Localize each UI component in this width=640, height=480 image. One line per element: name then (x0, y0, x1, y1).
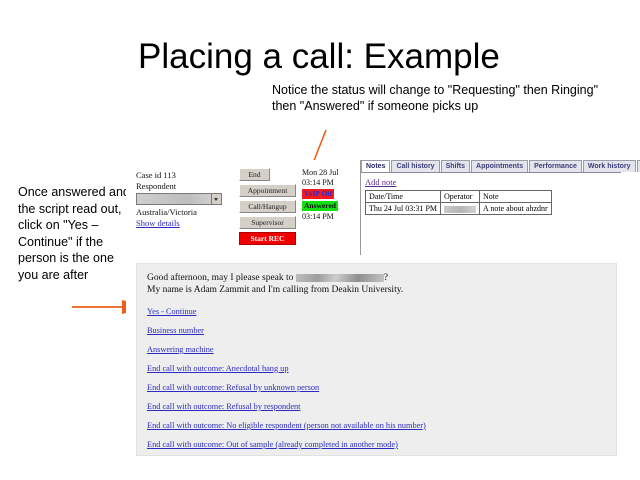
call-hangup-button[interactable]: Call/Hangup (239, 200, 296, 213)
option-no-eligible-respondent[interactable]: End call with outcome: No eligible respo… (147, 421, 606, 431)
start-rec-button[interactable]: Start REC (239, 232, 296, 245)
cell-note: A note about ahzdnr (480, 203, 552, 215)
option-out-of-sample[interactable]: End call with outcome: Out of sample (al… (147, 440, 606, 450)
option-refusal-unknown-person[interactable]: End call with outcome: Refusal by unknow… (147, 383, 606, 393)
page-title: Placing a call: Example (138, 36, 608, 78)
redacted-operator (444, 206, 476, 213)
table-row[interactable]: Thu 24 Jul 03:31 PM A note about ahzdnr (366, 203, 552, 215)
cell-datetime: Thu 24 Jul 03:31 PM (366, 203, 441, 215)
timezone-label: Australia/Victoria (136, 207, 236, 218)
column-datetime: Date/Time (366, 191, 441, 203)
column-note: Note (480, 191, 552, 203)
option-anecdotal-hangup[interactable]: End call with outcome: Anecdotal hang up (147, 364, 606, 374)
tab-notes[interactable]: Notes (361, 160, 390, 172)
script-options-list: Yes - Continue Business number Answering… (147, 307, 606, 450)
app-top-area: Case id 113 Respondent Australia/Victori… (126, 160, 621, 255)
chevron-down-icon (211, 194, 221, 204)
end-button[interactable]: End (239, 168, 270, 181)
option-business-number[interactable]: Business number (147, 326, 606, 336)
callout-status-note: Notice the status will change to "Reques… (272, 82, 612, 114)
add-note-link[interactable]: Add note (365, 177, 396, 187)
script-line-1: Good afternoon, may I please speak to ? (147, 272, 606, 284)
tab-call-history[interactable]: Call history (391, 160, 439, 172)
status-time-top: 03:14 PM (302, 178, 354, 188)
notes-table: Date/Time Operator Note Thu 24 Jul 03:31… (365, 190, 552, 215)
case-id-label: Case id 113 (136, 170, 236, 181)
script-line-1-before: Good afternoon, may I please speak to (147, 273, 293, 283)
case-info-panel: Case id 113 Respondent Australia/Victori… (136, 170, 236, 228)
option-answering-machine[interactable]: Answering machine (147, 345, 606, 355)
appointment-button[interactable]: Appointment (239, 184, 296, 197)
option-refusal-respondent[interactable]: End call with outcome: Refusal by respon… (147, 402, 606, 412)
redacted-respondent-name (296, 274, 384, 282)
supervisor-button[interactable]: Supervisor (239, 216, 296, 229)
tab-performance[interactable]: Performance (529, 160, 582, 172)
slide-canvas: Placing a call: Example Notice the statu… (0, 0, 640, 480)
tab-info[interactable]: Info (637, 160, 640, 172)
tab-shifts[interactable]: Shifts (441, 160, 470, 172)
script-line-1-after: ? (384, 273, 388, 283)
call-status-badge: Answered (302, 201, 338, 211)
call-control-buttons: End Appointment Call/Hangup Supervisor S… (239, 168, 297, 248)
column-operator: Operator (441, 191, 480, 203)
show-details-link[interactable]: Show details (136, 218, 236, 228)
call-status-panel: Mon 28 Jul 03:14 PM VoIP Off Answered 03… (302, 168, 354, 222)
respondent-select[interactable] (136, 193, 222, 205)
script-panel: Good afternoon, may I please speak to ? … (136, 263, 617, 456)
notes-panel: Notes Call history Shifts Appointments P… (360, 160, 621, 255)
cell-operator (441, 203, 480, 215)
callout-yes-continue-note: Once answered and the script read out, c… (18, 184, 130, 283)
script-line-2: My name is Adam Zammit and I'm calling f… (147, 284, 606, 296)
status-date: Mon 28 Jul (302, 168, 354, 178)
tab-bar: Notes Call history Shifts Appointments P… (361, 160, 621, 173)
tab-work-history[interactable]: Work history (583, 160, 636, 172)
voip-status-badge: VoIP Off (302, 189, 334, 199)
tab-appointments[interactable]: Appointments (471, 160, 528, 172)
respondent-label: Respondent (136, 181, 236, 192)
notes-body: Add note Date/Time Operator Note Thu 24 … (361, 173, 621, 215)
status-time-bottom: 03:14 PM (302, 212, 354, 222)
table-header-row: Date/Time Operator Note (366, 191, 552, 203)
option-yes-continue[interactable]: Yes - Continue (147, 307, 606, 317)
app-screenshot: Case id 113 Respondent Australia/Victori… (126, 160, 621, 458)
